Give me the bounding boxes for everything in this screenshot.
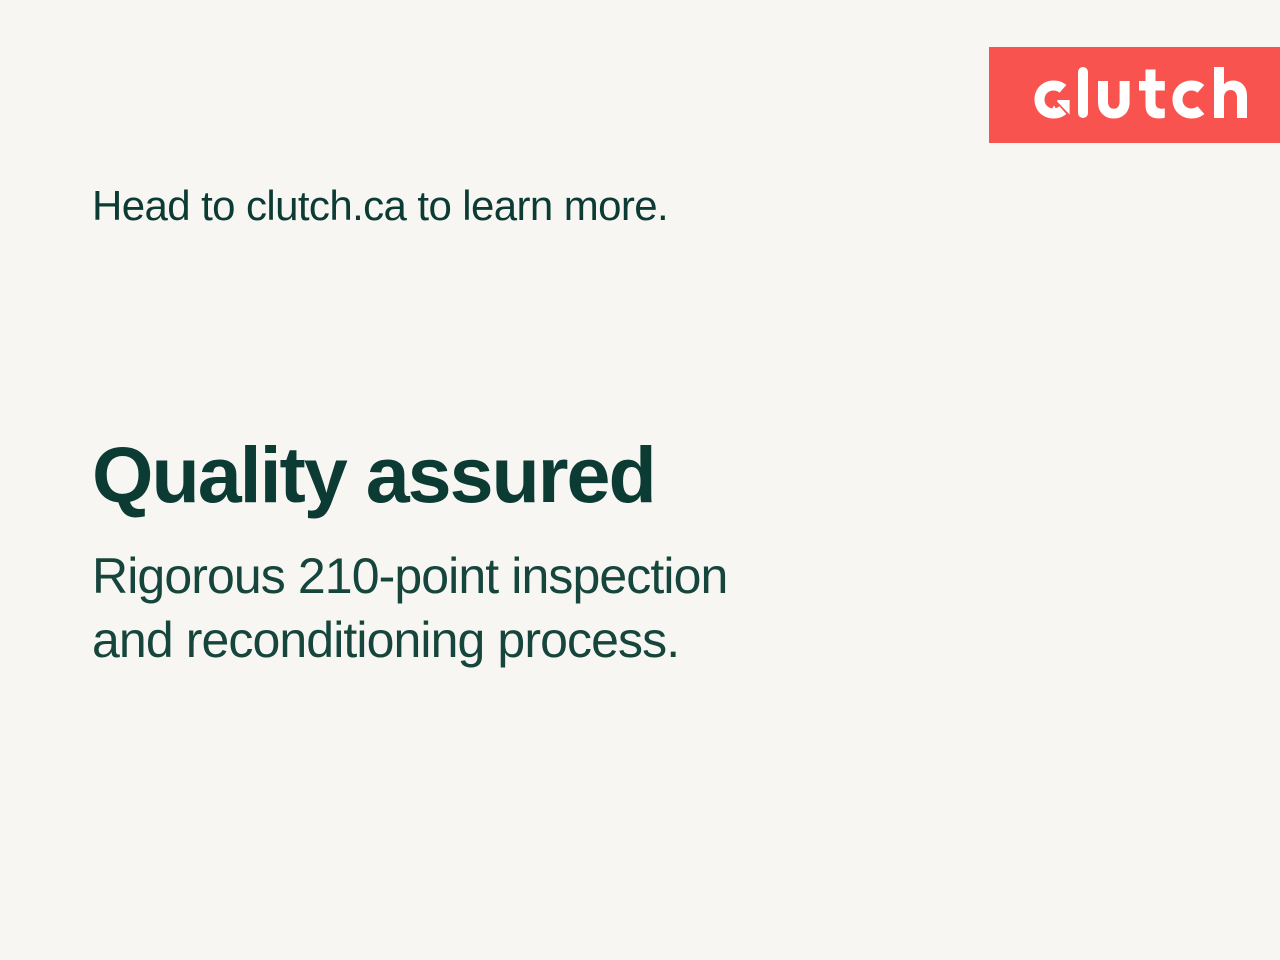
body-copy-line: Rigorous 210-point inspection	[92, 544, 727, 608]
slide-canvas: clutch Head to clutch.ca to learn more. …	[0, 0, 1280, 960]
clutch-logo-icon: clutch	[1022, 47, 1248, 143]
headline-text: Head to clutch.ca to learn more.	[92, 181, 668, 231]
brand-badge: clutch	[989, 47, 1280, 143]
page-title: Quality assured	[92, 434, 655, 517]
body-copy-line: and reconditioning process.	[92, 608, 727, 672]
body-copy: Rigorous 210-point inspection and recond…	[92, 544, 727, 672]
